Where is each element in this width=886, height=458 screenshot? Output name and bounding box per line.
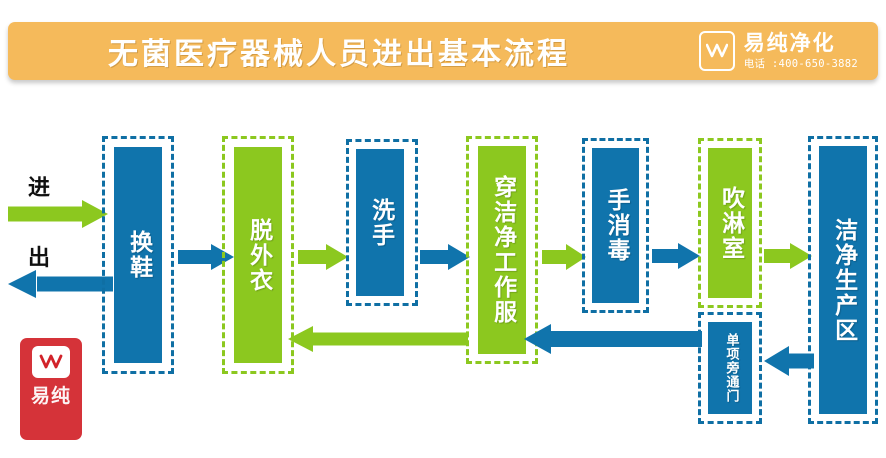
step-remove-coat[interactable]: 脱外衣 — [234, 147, 282, 363]
arrow-wear-cleanwear-to-hand-disinfect — [542, 244, 586, 270]
step-label: 脱外衣 — [244, 218, 271, 293]
step-label: 换鞋 — [124, 230, 151, 280]
step-clean-area[interactable]: 洁净生产区 — [819, 146, 867, 414]
arrow-hand-disinfect-to-air-shower — [652, 243, 700, 269]
seal-characters: 易纯 — [24, 384, 78, 434]
step-wash-hands[interactable]: 洗手 — [356, 149, 404, 296]
arrow-wash-hands-to-wear-cleanwear — [420, 244, 470, 270]
arrow-wear-cleanwear-to-remove-coat — [288, 326, 468, 352]
header-banner: 无菌医疗器械人员进出基本流程 易纯净化 电话 :400-650-3882 — [8, 22, 878, 80]
step-label: 吹淋室 — [716, 186, 743, 261]
arrow-remove-coat-to-wash-hands — [298, 244, 348, 270]
entry-label: 进 — [28, 170, 51, 202]
exit-label: 出 — [28, 240, 51, 272]
arrow-bypass-door-to-wear-cleanwear — [524, 324, 702, 354]
brand-phone: 电话 :400-650-3882 — [744, 59, 858, 70]
brand-text: 易纯净化 电话 :400-650-3882 — [744, 33, 858, 70]
arrow-air-shower-to-clean-area — [764, 243, 812, 269]
w-logo-icon — [699, 31, 735, 71]
w-logo-icon — [32, 346, 70, 378]
exit-arrow — [8, 270, 113, 298]
step-label: 单项旁通门 — [723, 333, 738, 403]
step-label: 穿洁净工作服 — [488, 175, 515, 325]
step-label: 洗手 — [366, 198, 393, 248]
step-air-shower[interactable]: 吹淋室 — [708, 148, 752, 298]
step-wear-cleanwear[interactable]: 穿洁净工作服 — [478, 146, 526, 354]
step-bypass-door[interactable]: 单项旁通门 — [708, 322, 752, 414]
brand-name: 易纯净化 — [744, 33, 858, 54]
entry-arrow — [8, 200, 108, 228]
flow-diagram: 进 出 换鞋 脱外衣 洗手 穿洁净工作服 — [0, 88, 886, 458]
step-label: 洁净生产区 — [829, 218, 856, 343]
page-title: 无菌医疗器械人员进出基本流程 — [108, 29, 570, 73]
step-hand-disinfect[interactable]: 手消毒 — [592, 148, 639, 303]
brand-block: 易纯净化 电话 :400-650-3882 — [699, 31, 858, 71]
arrow-clean-area-to-bypass-door — [764, 346, 814, 376]
step-change-shoes[interactable]: 换鞋 — [114, 147, 162, 363]
company-seal-watermark: 易纯 — [20, 338, 82, 440]
step-label: 手消毒 — [602, 188, 629, 263]
